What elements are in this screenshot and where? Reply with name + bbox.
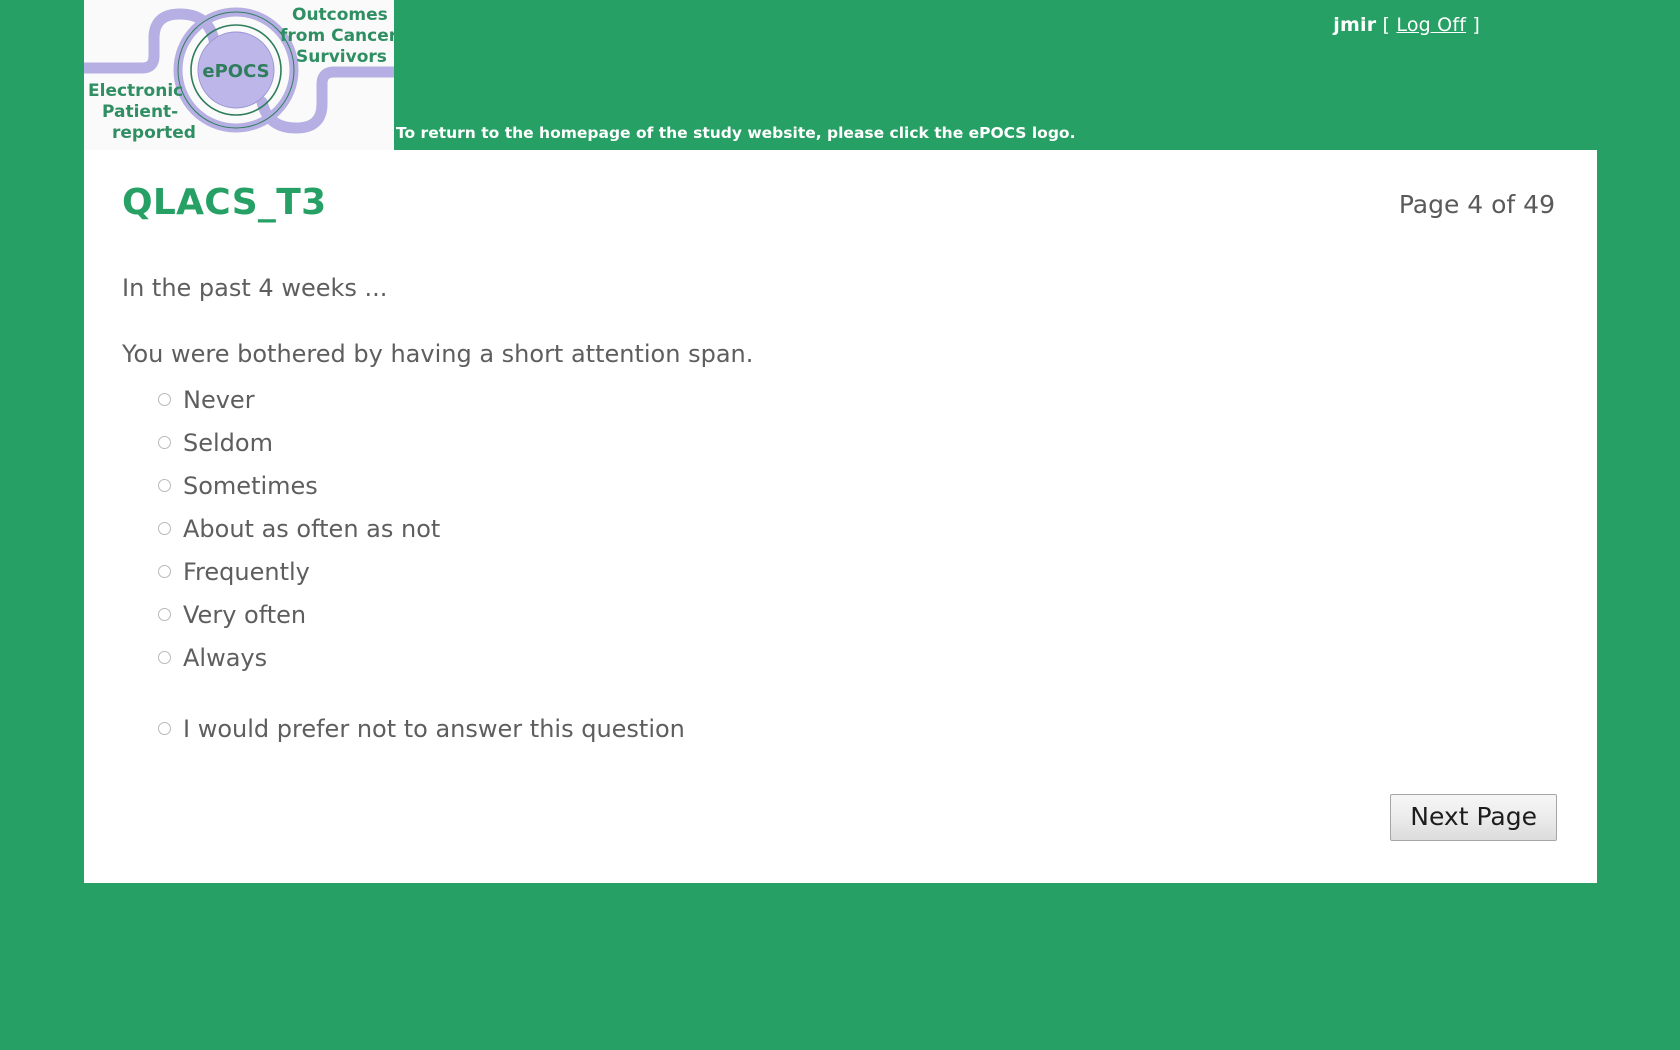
answer-option-2[interactable]: Sometimes [122,464,685,507]
user-session-bar: jmir [ Log Off ] [1333,14,1480,36]
epocs-logo[interactable]: ePOCS Outcomes from Cancer Survivors Ele… [84,0,394,150]
radio-button-icon[interactable] [158,722,171,735]
answer-option-4[interactable]: Frequently [122,550,685,593]
radio-button-icon[interactable] [158,565,171,578]
svg-text:Patient-: Patient- [102,102,178,122]
page-title: QLACS_T3 [122,182,326,223]
svg-text:Outcomes: Outcomes [292,5,388,25]
questionnaire-card: QLACS_T3 Page 4 of 49 In the past 4 week… [84,150,1597,883]
answer-options-list: NeverSeldomSometimesAbout as often as no… [122,378,685,750]
return-home-note: To return to the homepage of the study w… [396,124,1075,142]
radio-button-icon[interactable] [158,479,171,492]
svg-text:Electronic: Electronic [88,81,183,101]
svg-text:ePOCS: ePOCS [202,61,269,82]
option-label: Very often [183,603,306,627]
radio-button-icon[interactable] [158,608,171,621]
answer-option-5[interactable]: Very often [122,593,685,636]
option-label: Frequently [183,560,310,584]
page-counter: Page 4 of 49 [1399,190,1555,219]
next-page-button[interactable]: Next Page [1390,794,1557,841]
card-header: QLACS_T3 Page 4 of 49 [84,150,1597,242]
option-label: Sometimes [183,474,318,498]
epocs-logo-graphic: ePOCS Outcomes from Cancer Survivors Ele… [84,0,394,150]
username-label: jmir [1333,14,1376,36]
radio-button-icon[interactable] [158,522,171,535]
answer-option-6[interactable]: Always [122,636,685,679]
intro-text: In the past 4 weeks ... [122,274,387,302]
option-label: About as often as not [183,517,440,541]
answer-option-0[interactable]: Never [122,378,685,421]
option-label: Never [183,388,255,412]
option-label: Seldom [183,431,273,455]
question-text: You were bothered by having a short atte… [122,340,753,368]
site-header: ePOCS Outcomes from Cancer Survivors Ele… [0,0,1680,150]
bracket-close: ] [1472,14,1480,36]
radio-button-icon[interactable] [158,393,171,406]
bracket-open: [ [1383,14,1391,36]
svg-text:from Cancer: from Cancer [280,26,394,46]
option-label: I would prefer not to answer this questi… [183,717,685,741]
svg-text:Survivors: Survivors [296,47,387,67]
log-off-link[interactable]: Log Off [1396,14,1466,36]
radio-button-icon[interactable] [158,436,171,449]
option-label: Always [183,646,267,670]
answer-option-3[interactable]: About as often as not [122,507,685,550]
radio-button-icon[interactable] [158,651,171,664]
answer-option-1[interactable]: Seldom [122,421,685,464]
svg-text:reported: reported [112,123,196,143]
answer-option-decline[interactable]: I would prefer not to answer this questi… [122,707,685,750]
